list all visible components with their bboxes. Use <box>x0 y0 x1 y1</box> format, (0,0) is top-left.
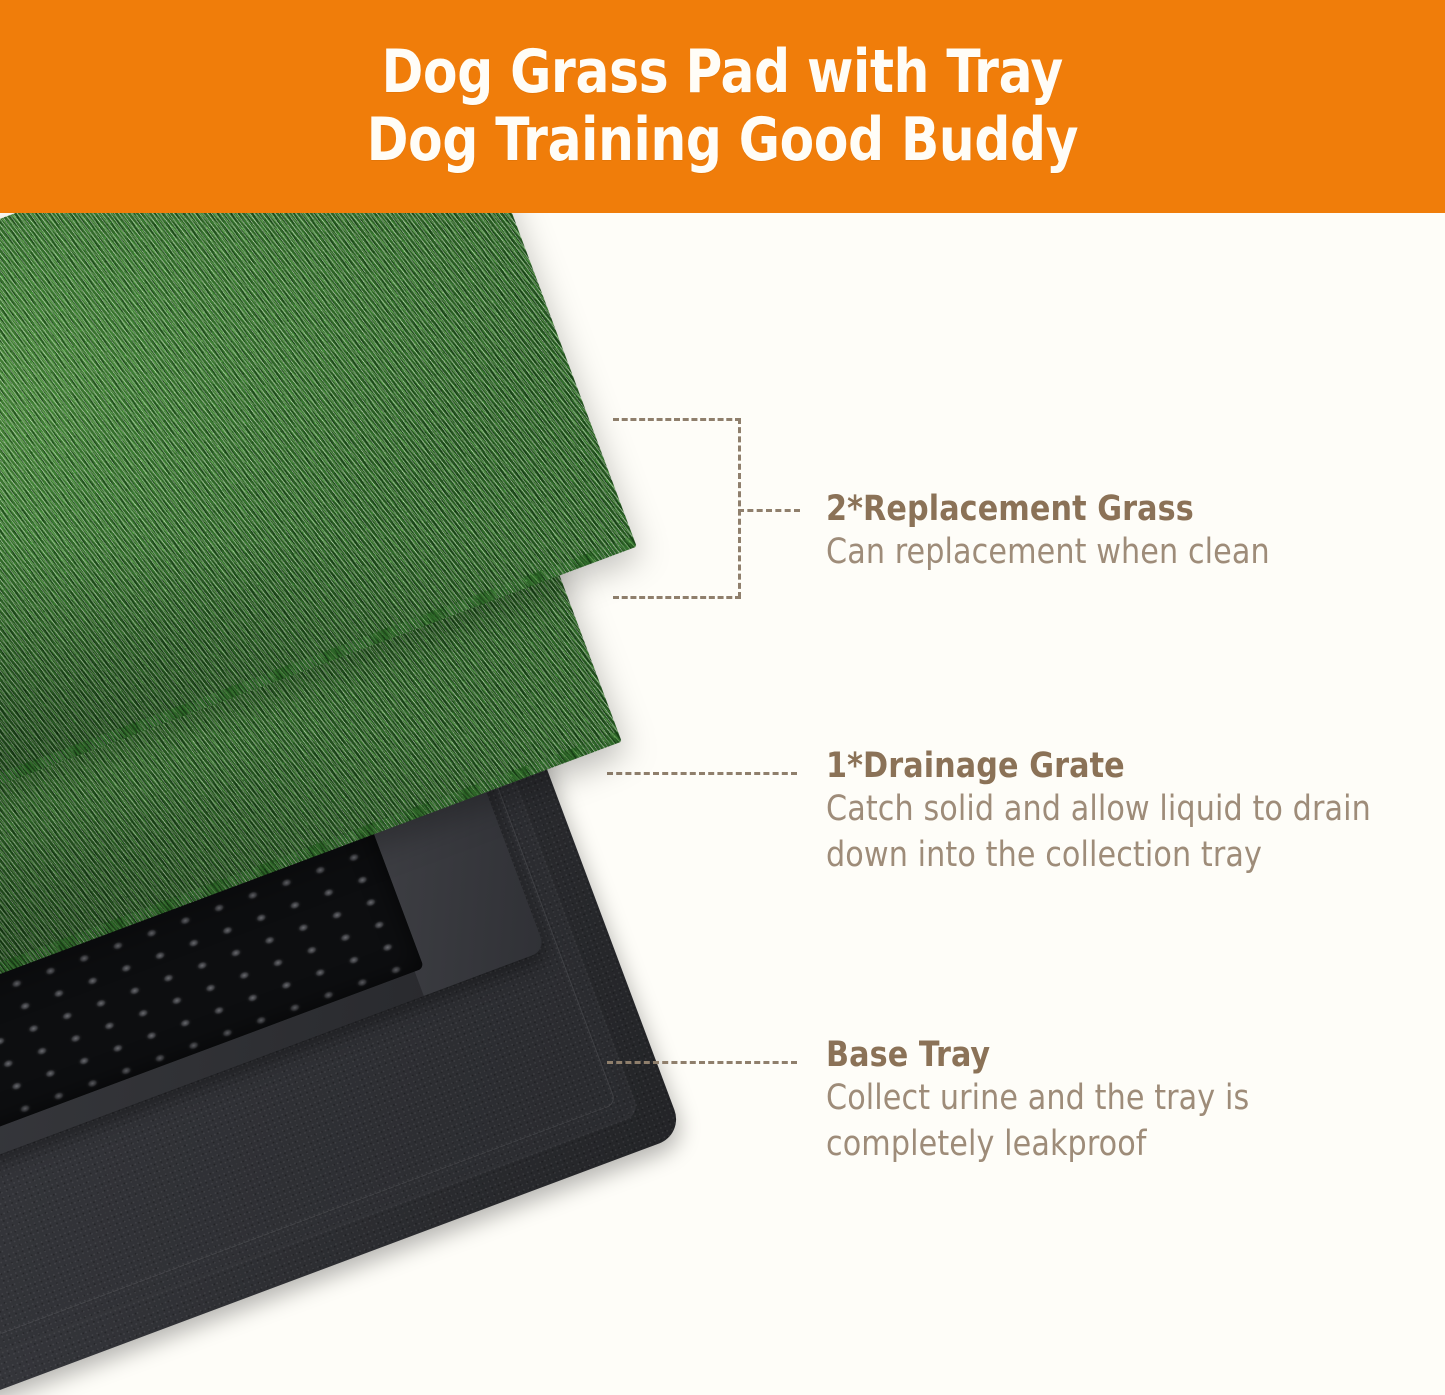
leader-bracket-spine <box>738 418 741 598</box>
leader-bracket-top-arm <box>613 418 741 421</box>
callout-text-drainage-grate: 1*Drainage Grate Catch solid and allow l… <box>826 746 1445 878</box>
leader-line-drainage-grate <box>607 772 797 775</box>
callout-description: Catch solid and allow liquid to drain do… <box>826 787 1420 878</box>
callout-description: Can replacement when clean <box>826 530 1270 576</box>
header-banner: Dog Grass Pad with Tray Dog Training Goo… <box>0 0 1445 213</box>
callout-text-base-tray: Base Tray Collect urine and the tray is … <box>826 1035 1445 1167</box>
callout-text-replacement-grass: 2*Replacement Grass Can replacement when… <box>826 489 1288 576</box>
header-title-line-2: Dog Training Good Buddy <box>367 107 1078 175</box>
callout-title: 2*Replacement Grass <box>826 489 1270 530</box>
leader-bracket-pointer <box>738 509 800 512</box>
leader-bracket-bottom-arm <box>613 596 741 599</box>
product-exploded-view: 2*Replacement Grass Can replacement when… <box>0 213 1445 1395</box>
callout-description: Collect urine and the tray is completely… <box>826 1076 1420 1167</box>
leader-line-base-tray <box>607 1061 797 1064</box>
header-title-line-1: Dog Grass Pad with Tray <box>382 39 1063 107</box>
callout-title: 1*Drainage Grate <box>826 746 1420 787</box>
callout-title: Base Tray <box>826 1035 1420 1076</box>
